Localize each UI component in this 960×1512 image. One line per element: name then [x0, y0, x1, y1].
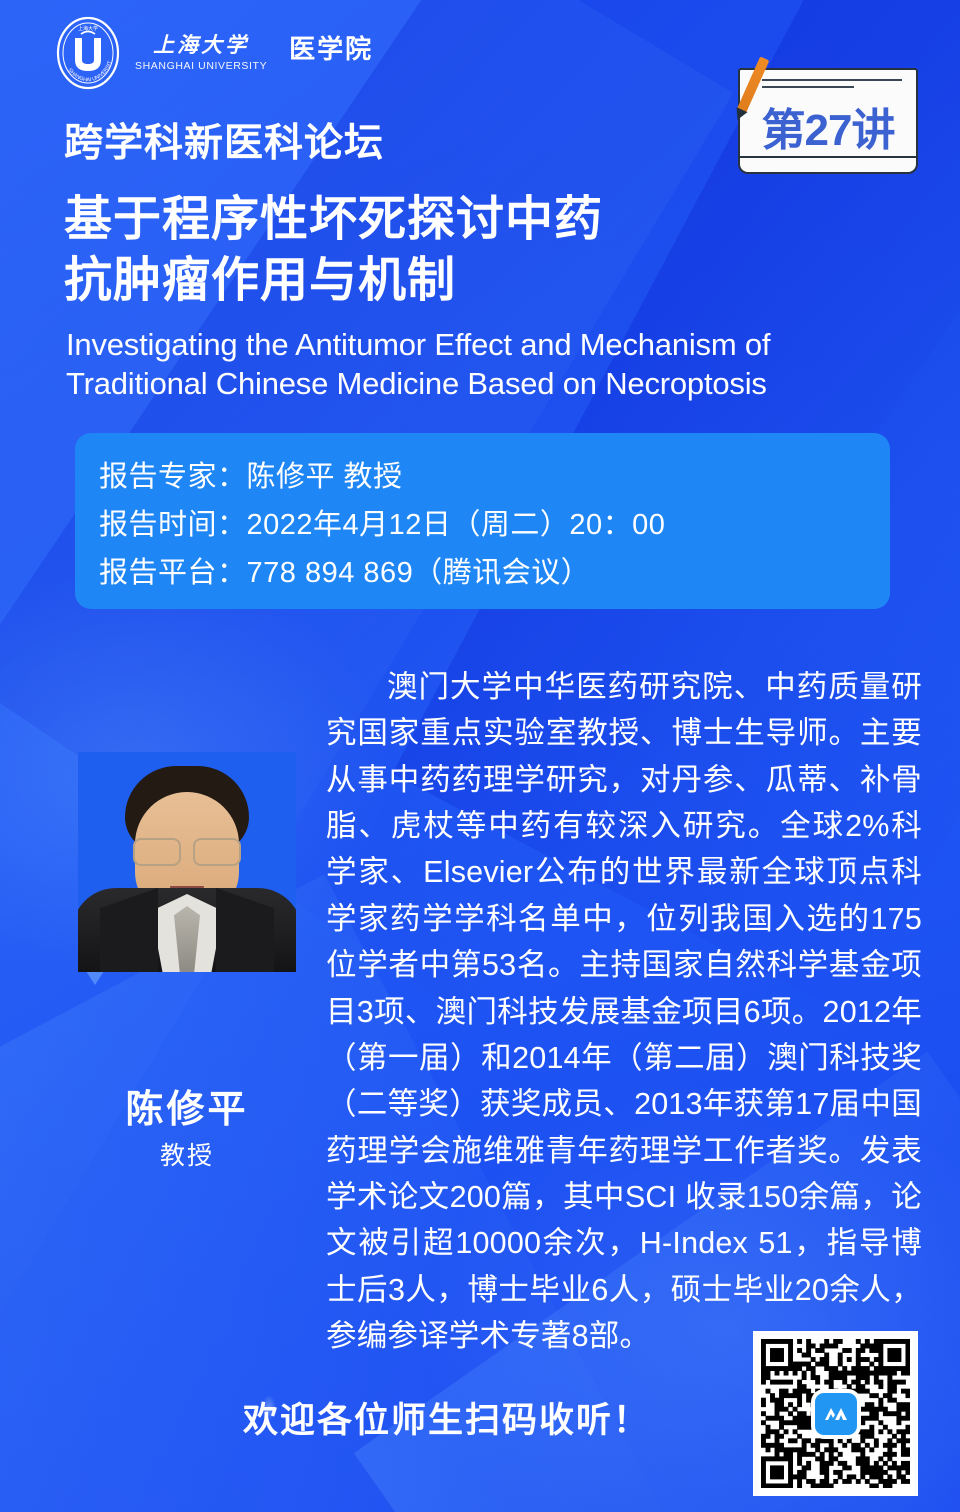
info-row-platform: 报告平台：778 894 869（腾讯会议）: [99, 549, 890, 597]
badge-label: 第27讲: [740, 94, 916, 158]
speaker-biography: 澳门大学中华医药研究院、中药质量研究国家重点实验室教授、博士生导师。主要从事中药…: [326, 664, 922, 1359]
qr-code-matrix: [761, 1339, 910, 1488]
qr-code[interactable]: [753, 1331, 918, 1496]
info-row-speaker: 报告专家：陈修平 教授: [99, 453, 890, 501]
speaker-role: 教授: [78, 1136, 296, 1172]
lecture-title-line-2: 抗肿瘤作用与机制: [64, 251, 603, 312]
lecture-subtitle-english: Investigating the Antitumor Effect and M…: [66, 325, 770, 403]
badge-rule-short: [762, 86, 854, 88]
subtitle-line-2: Traditional Chinese Medicine Based on Ne…: [66, 364, 770, 403]
poster-root: 上海大学 SHANGHAI UNIVERSITY 上海大学 SHANGHAI U…: [0, 0, 960, 1512]
university-header: 上海大学 SHANGHAI UNIVERSITY 上海大学 SHANGHAI U…: [55, 16, 373, 90]
badge-page-curl: [738, 156, 918, 174]
speaker-name: 陈修平: [78, 1078, 296, 1133]
svg-text:上海大学: 上海大学: [78, 25, 98, 32]
badge-rule-long: [762, 79, 902, 81]
shanghai-university-seal-icon: 上海大学 SHANGHAI UNIVERSITY: [55, 16, 121, 90]
subtitle-line-1: Investigating the Antitumor Effect and M…: [66, 325, 770, 364]
forum-series-title: 跨学科新医科论坛: [64, 112, 384, 168]
badge-card: 第27讲: [738, 68, 918, 164]
tencent-meeting-logo-icon: [815, 1393, 857, 1435]
lecture-title-line-1: 基于程序性坏死探讨中药: [64, 190, 603, 251]
college-name: 医学院: [289, 29, 373, 66]
university-names: 上海大学 SHANGHAI UNIVERSITY 医学院: [135, 35, 373, 72]
scan-call-to-action: 欢迎各位师生扫码收听！: [243, 1392, 650, 1443]
university-name-en: SHANGHAI UNIVERSITY: [135, 61, 267, 72]
lecture-number-badge: 第27讲: [726, 56, 922, 176]
info-row-time: 报告时间：2022年4月12日（周二）20：00: [99, 501, 890, 549]
lecture-title: 基于程序性坏死探讨中药 抗肿瘤作用与机制: [64, 190, 603, 312]
lecture-info-panel: 报告专家：陈修平 教授 报告时间：2022年4月12日（周二）20：00 报告平…: [75, 433, 890, 609]
speaker-photo: [78, 752, 296, 972]
university-name-cn: 上海大学: [153, 35, 249, 56]
photo-glasses: [131, 838, 243, 864]
